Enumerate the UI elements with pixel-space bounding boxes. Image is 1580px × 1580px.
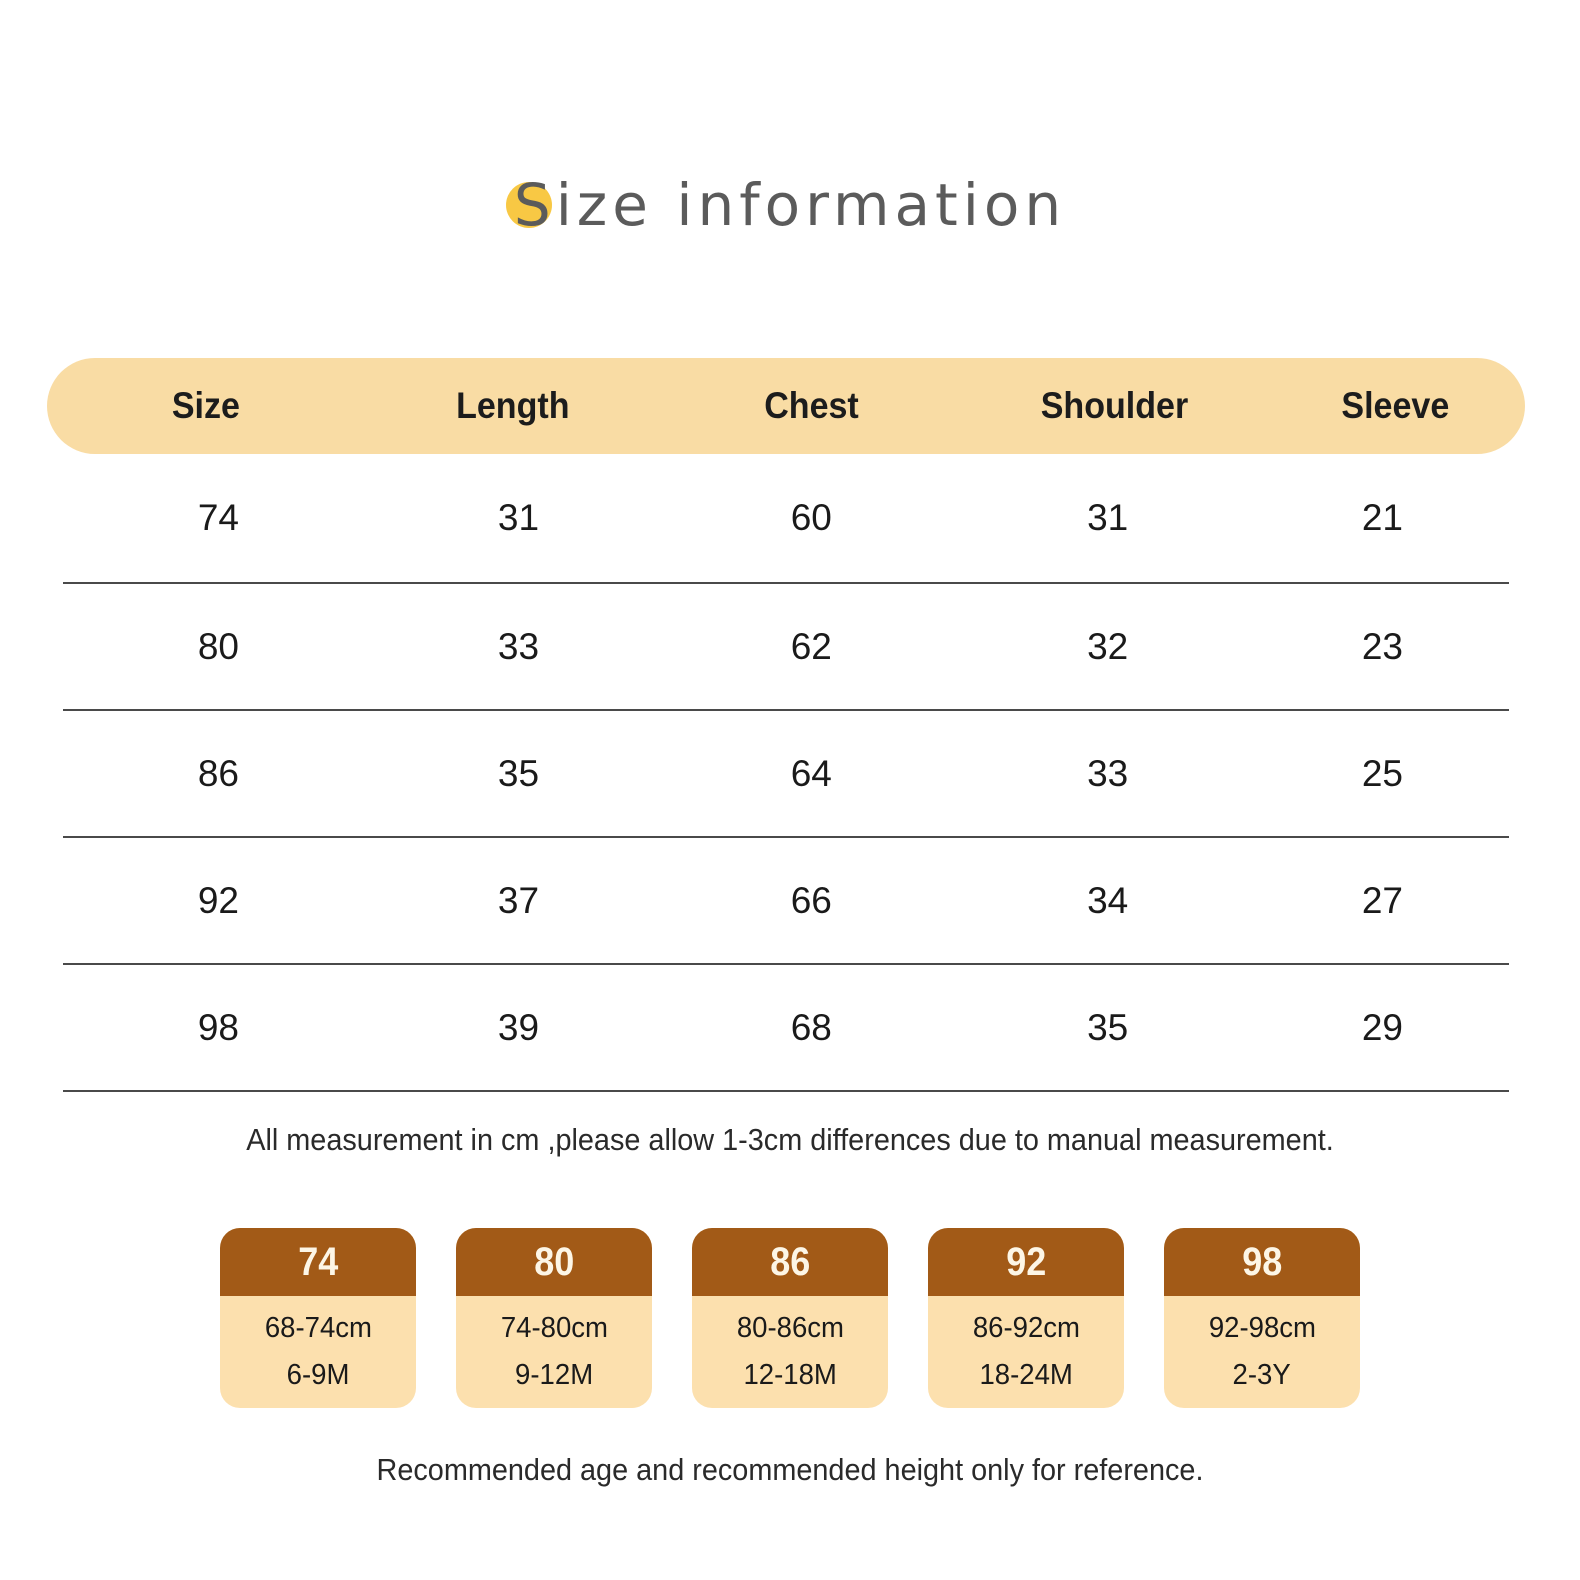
cell-chest: 68 [663,1007,959,1049]
size-card-age: 2-3Y [1233,1359,1291,1392]
cell-sleeve: 25 [1256,753,1509,795]
cell-length: 39 [374,1007,663,1049]
size-card-body: 68-74cm 6-9M [220,1296,416,1408]
size-card-body: 74-80cm 9-12M [456,1296,652,1408]
size-card-body: 92-98cm 2-3Y [1164,1296,1360,1408]
cell-sleeve: 27 [1256,880,1509,922]
size-card-size-label: 80 [534,1240,574,1285]
size-card-age: 18-24M [979,1359,1072,1392]
size-card-height: 80-86cm [736,1312,843,1345]
cell-length: 31 [374,497,663,539]
column-header-length: Length [377,385,649,427]
table-row: 98 39 68 35 29 [63,965,1509,1092]
cell-length: 33 [374,626,663,668]
size-table: Size Length Chest Shoulder Sleeve 74 31 … [47,358,1525,1092]
size-card: 92 86-92cm 18-24M [928,1228,1124,1408]
table-row: 92 37 66 34 27 [63,838,1509,965]
cell-size: 98 [63,1007,374,1049]
size-card-age: 12-18M [743,1359,836,1392]
reference-note: Recommended age and recommended height o… [55,1452,1524,1488]
column-header-chest: Chest [672,385,951,427]
size-card-size-label: 86 [770,1240,810,1285]
cell-sleeve: 29 [1256,1007,1509,1049]
size-card: 86 80-86cm 12-18M [692,1228,888,1408]
measurement-note: All measurement in cm ,please allow 1-3c… [55,1122,1524,1158]
size-table-body: 74 31 60 31 21 80 33 62 32 23 86 35 64 3… [47,454,1525,1092]
size-card-size-label: 74 [298,1240,338,1285]
table-row: 80 33 62 32 23 [63,584,1509,711]
cell-shoulder: 35 [959,1007,1255,1049]
size-card-size-label: 98 [1242,1240,1282,1285]
size-card: 80 74-80cm 9-12M [456,1228,652,1408]
size-card-height: 92-98cm [1208,1312,1315,1345]
size-card: 74 68-74cm 6-9M [220,1228,416,1408]
size-table-header-row: Size Length Chest Shoulder Sleeve [47,358,1525,454]
column-header-shoulder: Shoulder [975,385,1254,427]
size-card-age: 6-9M [287,1359,350,1392]
size-card-header: 86 [692,1228,888,1296]
column-header-size: Size [60,385,352,427]
cell-sleeve: 23 [1256,626,1509,668]
cell-chest: 66 [663,880,959,922]
page-title-text: Size information [514,171,1066,239]
size-card-header: 80 [456,1228,652,1296]
cell-size: 80 [63,626,374,668]
cell-sleeve: 21 [1256,497,1509,539]
size-card-height: 68-74cm [264,1312,371,1345]
size-card-list: 74 68-74cm 6-9M 80 74-80cm 9-12M 86 80-8… [0,1228,1580,1408]
cell-shoulder: 31 [959,497,1255,539]
column-header-sleeve: Sleeve [1277,385,1515,427]
cell-length: 37 [374,880,663,922]
size-card: 98 92-98cm 2-3Y [1164,1228,1360,1408]
table-row: 74 31 60 31 21 [63,454,1509,584]
cell-shoulder: 34 [959,880,1255,922]
cell-chest: 62 [663,626,959,668]
size-card-height: 74-80cm [500,1312,607,1345]
cell-size: 74 [63,497,374,539]
size-card-header: 92 [928,1228,1124,1296]
cell-shoulder: 33 [959,753,1255,795]
page-title: Size information [0,160,1580,250]
size-card-header: 74 [220,1228,416,1296]
size-card-header: 98 [1164,1228,1360,1296]
cell-shoulder: 32 [959,626,1255,668]
cell-chest: 64 [663,753,959,795]
size-card-age: 9-12M [515,1359,593,1392]
size-card-body: 86-92cm 18-24M [928,1296,1124,1408]
size-card-size-label: 92 [1006,1240,1046,1285]
table-row: 86 35 64 33 25 [63,711,1509,838]
cell-chest: 60 [663,497,959,539]
size-card-height: 86-92cm [972,1312,1079,1345]
cell-length: 35 [374,753,663,795]
size-card-body: 80-86cm 12-18M [692,1296,888,1408]
cell-size: 86 [63,753,374,795]
cell-size: 92 [63,880,374,922]
